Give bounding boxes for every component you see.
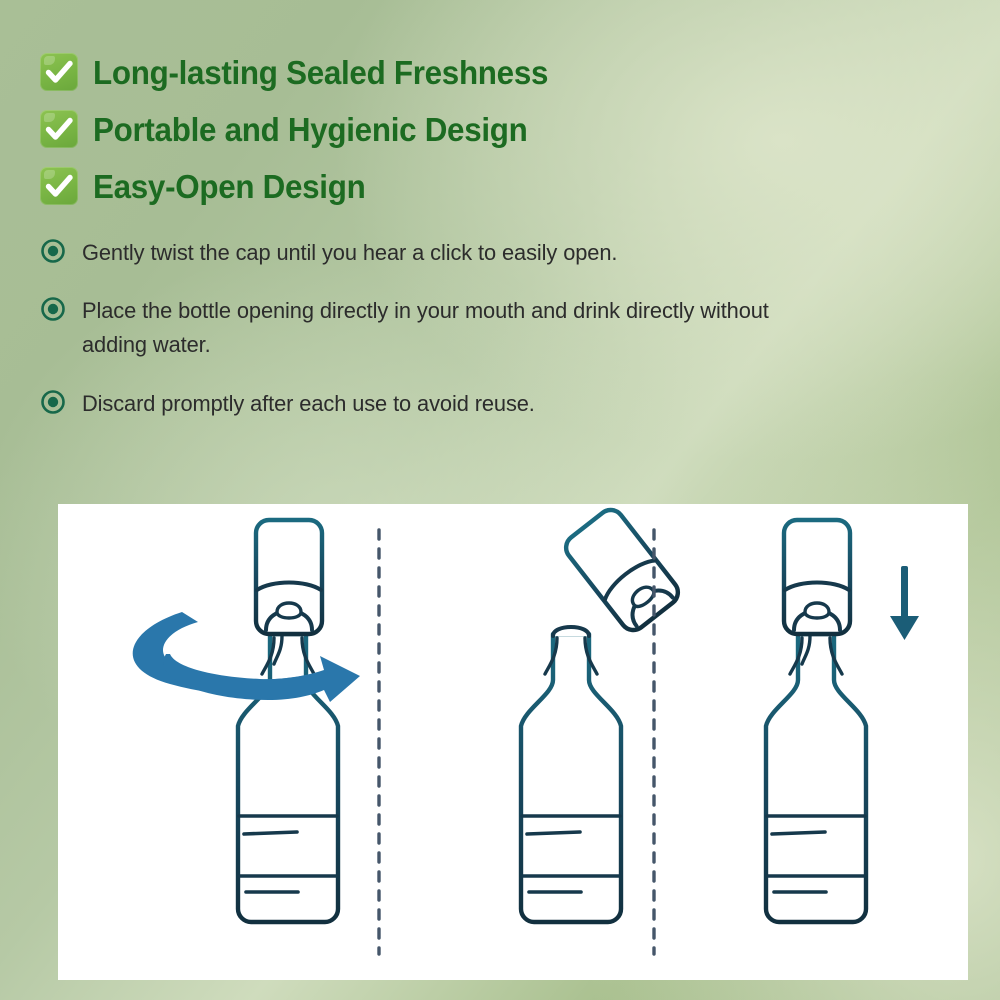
instruction-item: Place the bottle opening directly in you… [40,294,830,362]
step-1-twist-cap [133,520,360,944]
instruction-item: Gently twist the cap until you hear a cl… [40,236,830,270]
rotate-arrow-icon [133,612,360,702]
instruction-text: Place the bottle opening directly in you… [82,294,808,362]
check-square-icon [40,167,78,205]
radio-dot-icon [40,296,66,322]
step-2-remove-cap [513,505,683,944]
feature-headline-label: Long-lasting Sealed Freshness [93,56,548,89]
check-square-icon [40,53,78,91]
instruction-item: Discard promptly after each use to avoid… [40,387,830,421]
radio-dot-icon [40,238,66,264]
check-square-icon [40,110,78,148]
instruction-list: Gently twist the cap until you hear a cl… [40,236,830,445]
instruction-text: Gently twist the cap until you hear a cl… [82,236,617,270]
product-feature-poster: Long-lasting Sealed Freshness Portable a… [0,0,1000,1000]
step-3-replace-cap [758,520,919,944]
feature-headline-list: Long-lasting Sealed Freshness Portable a… [40,44,920,215]
feature-headline-item: Easy-Open Design [40,158,920,214]
feature-headline-item: Portable and Hygienic Design [40,101,920,157]
down-arrow-icon [890,566,919,640]
feature-headline-item: Long-lasting Sealed Freshness [40,44,920,100]
bottle-body-3 [766,634,866,922]
bottle-cap-3 [784,520,850,634]
bottle-cap-1 [256,520,322,634]
tilted-cap-icon [561,505,683,635]
instruction-text: Discard promptly after each use to avoid… [82,387,535,421]
bottle-mouth-2 [553,627,589,636]
feature-headline-label: Easy-Open Design [93,170,365,203]
feature-headline-label: Portable and Hygienic Design [93,113,528,146]
usage-illustration-panel [58,504,968,980]
bottle-body-2 [521,634,621,922]
radio-dot-icon [40,389,66,415]
